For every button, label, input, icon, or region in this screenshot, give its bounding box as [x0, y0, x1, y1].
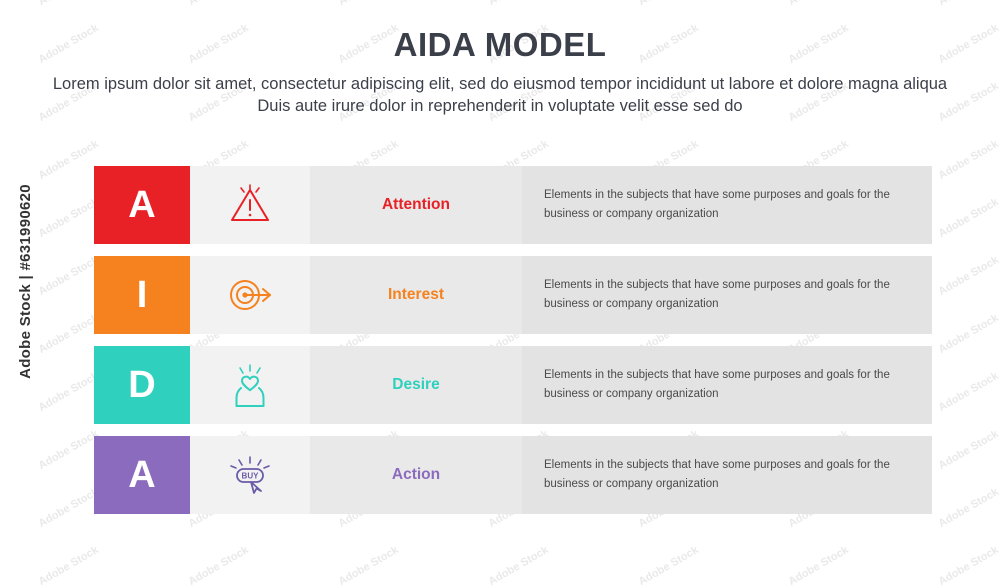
- buy-button-icon: BUY: [225, 453, 275, 497]
- svg-text:BUY: BUY: [242, 472, 260, 481]
- row-description: Elements in the subjects that have some …: [544, 366, 916, 403]
- desc-cell-interest: Elements in the subjects that have some …: [522, 256, 932, 334]
- letter-text: D: [128, 364, 155, 407]
- row-label: Desire: [392, 376, 439, 394]
- row-description: Elements in the subjects that have some …: [544, 456, 916, 493]
- letter-badge-interest: I: [94, 256, 190, 334]
- label-cell-desire: Desire: [310, 346, 522, 424]
- label-cell-attention: Attention: [310, 166, 522, 244]
- letter-text: I: [137, 274, 148, 317]
- icon-cell-attention: [190, 166, 310, 244]
- icon-cell-interest: [190, 256, 310, 334]
- row-description: Elements in the subjects that have some …: [544, 276, 916, 313]
- target-arrow-icon: [226, 274, 274, 316]
- desc-cell-action: Elements in the subjects that have some …: [522, 436, 932, 514]
- page-title: AIDA MODEL: [0, 26, 1000, 64]
- stock-watermark-text: Adobe Stock | #631990620: [17, 184, 34, 379]
- letter-badge-attention: A: [94, 166, 190, 244]
- desc-cell-attention: Elements in the subjects that have some …: [522, 166, 932, 244]
- aida-row-desire[interactable]: D Desire Elements in the subjects that h…: [94, 346, 932, 424]
- row-label: Attention: [382, 196, 450, 214]
- aida-rows: A Attention Elements in the subjects tha…: [94, 166, 932, 526]
- icon-cell-action: BUY: [190, 436, 310, 514]
- letter-text: A: [128, 184, 155, 227]
- aida-row-action[interactable]: A BUY Action Elements in the subjects t: [94, 436, 932, 514]
- hand-heart-icon: [230, 362, 270, 408]
- desc-cell-desire: Elements in the subjects that have some …: [522, 346, 932, 424]
- letter-text: A: [128, 454, 155, 497]
- letter-badge-desire: D: [94, 346, 190, 424]
- header: AIDA MODEL Lorem ipsum dolor sit amet, c…: [0, 26, 1000, 118]
- aida-row-interest[interactable]: I Interest Elements in the subjects that…: [94, 256, 932, 334]
- row-label: Action: [392, 466, 440, 484]
- row-label: Interest: [388, 286, 444, 304]
- warning-triangle-icon: [227, 184, 273, 226]
- page-subtitle: Lorem ipsum dolor sit amet, consectetur …: [50, 74, 950, 118]
- icon-cell-desire: [190, 346, 310, 424]
- label-cell-action: Action: [310, 436, 522, 514]
- aida-row-attention[interactable]: A Attention Elements in the subjects tha…: [94, 166, 932, 244]
- row-description: Elements in the subjects that have some …: [544, 186, 916, 223]
- letter-badge-action: A: [94, 436, 190, 514]
- label-cell-interest: Interest: [310, 256, 522, 334]
